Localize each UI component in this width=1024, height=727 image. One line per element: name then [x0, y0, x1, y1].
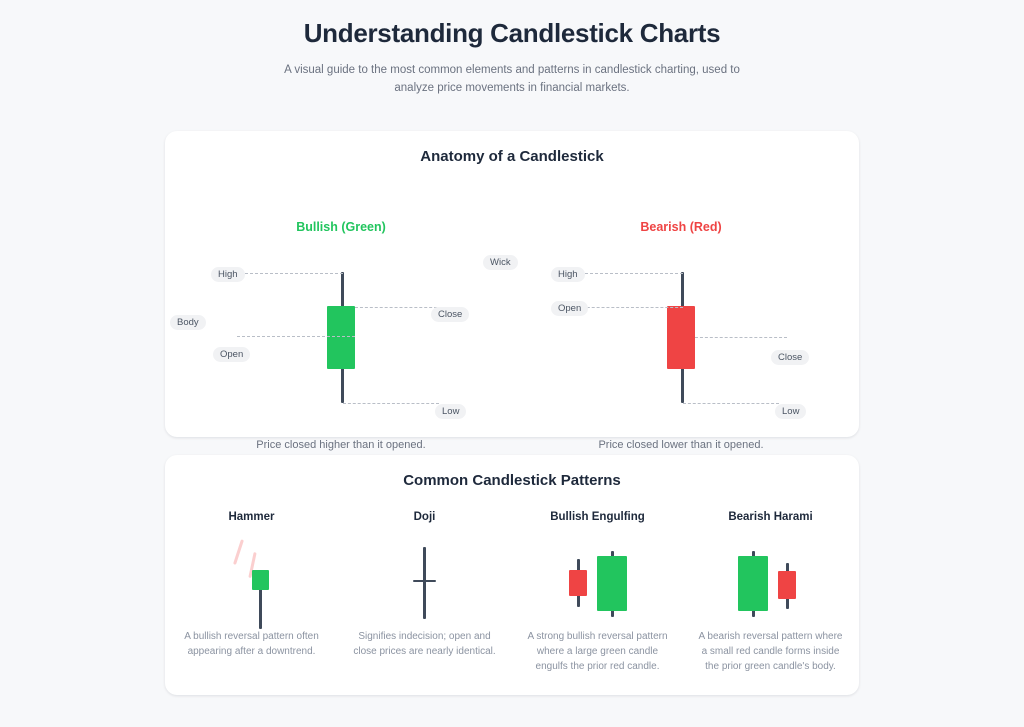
- bullish-low-label: Low: [435, 404, 466, 420]
- page-title: Understanding Candlestick Charts: [0, 18, 1024, 49]
- bullish-body: [327, 306, 355, 369]
- engulfing-green-body: [597, 556, 627, 611]
- patterns-row: Hammer A bullish reversal pattern often …: [165, 511, 859, 707]
- pattern-hammer-desc: A bullish reversal pattern often appeari…: [165, 629, 338, 659]
- anatomy-card-title: Anatomy of a Candlestick: [165, 131, 859, 165]
- bullish-heading: Bullish (Green): [211, 220, 471, 234]
- doji-wick: [423, 547, 426, 619]
- bullish-high-label: High: [211, 267, 245, 283]
- harami-red-body: [778, 571, 796, 599]
- pattern-bearish-harami-name: Bearish Harami: [684, 511, 857, 523]
- bearish-body: [667, 306, 695, 369]
- engulfing-red-body: [569, 570, 587, 596]
- bullish-open-label: Open: [213, 347, 250, 363]
- bullish-caption: Price closed higher than it opened.: [211, 439, 471, 451]
- pattern-hammer-name: Hammer: [165, 511, 338, 523]
- bullish-close-label: Close: [431, 307, 469, 323]
- pattern-bullish-engulfing-desc: A strong bullish reversal pattern where …: [511, 629, 684, 674]
- bearish-heading: Bearish (Red): [551, 220, 811, 234]
- patterns-card-title: Common Candlestick Patterns: [165, 455, 859, 489]
- pattern-hammer: Hammer A bullish reversal pattern often …: [165, 511, 338, 659]
- pattern-doji-desc: Signifies indecision; open and close pri…: [338, 629, 511, 659]
- bullish-high-leader: [245, 273, 343, 274]
- bearish-open-leader: [577, 307, 683, 308]
- pattern-bearish-harami: Bearish Harami A bearish reversal patter…: [684, 511, 857, 674]
- pattern-doji-name: Doji: [338, 511, 511, 523]
- bearish-low-label: Low: [775, 404, 806, 420]
- bearish-high-label: High: [551, 267, 585, 283]
- doji-crossbar: [413, 580, 436, 583]
- page-subtitle: A visual guide to the most common elemen…: [277, 62, 747, 98]
- bearish-high-leader: [585, 273, 683, 274]
- bullish-low-leader: [343, 403, 439, 404]
- pattern-bullish-engulfing: Bullish Engulfing A strong bullish rever…: [511, 511, 684, 674]
- pattern-hammer-glyph: [165, 537, 338, 629]
- pattern-bullish-engulfing-name: Bullish Engulfing: [511, 511, 684, 523]
- bullish-open-leader: [237, 336, 355, 337]
- pattern-bearish-harami-glyph: [684, 537, 857, 629]
- pattern-doji: Doji Signifies indecision; open and clos…: [338, 511, 511, 659]
- bearish-low-leader: [683, 403, 779, 404]
- patterns-card: Common Candlestick Patterns Hammer A bul…: [165, 455, 859, 695]
- pattern-bearish-harami-desc: A bearish reversal pattern where a small…: [684, 629, 857, 674]
- bearish-close-leader: [695, 337, 787, 338]
- hammer-body: [252, 570, 269, 590]
- page-header: Understanding Candlestick Charts A visua…: [0, 0, 1024, 98]
- bearish-open-label: Open: [551, 301, 588, 317]
- anatomy-diagram: Bullish (Green) Bearish (Red) Wick Body …: [165, 165, 859, 423]
- pattern-bullish-engulfing-glyph: [511, 537, 684, 629]
- downtrend-stroke-1: [233, 539, 243, 565]
- bearish-caption: Price closed lower than it opened.: [551, 439, 811, 451]
- body-label: Body: [170, 315, 206, 331]
- bearish-close-label: Close: [771, 350, 809, 366]
- anatomy-card: Anatomy of a Candlestick Bullish (Green)…: [165, 131, 859, 437]
- wick-label: Wick: [483, 255, 518, 271]
- pattern-doji-glyph: [338, 537, 511, 629]
- harami-green-body: [738, 556, 768, 611]
